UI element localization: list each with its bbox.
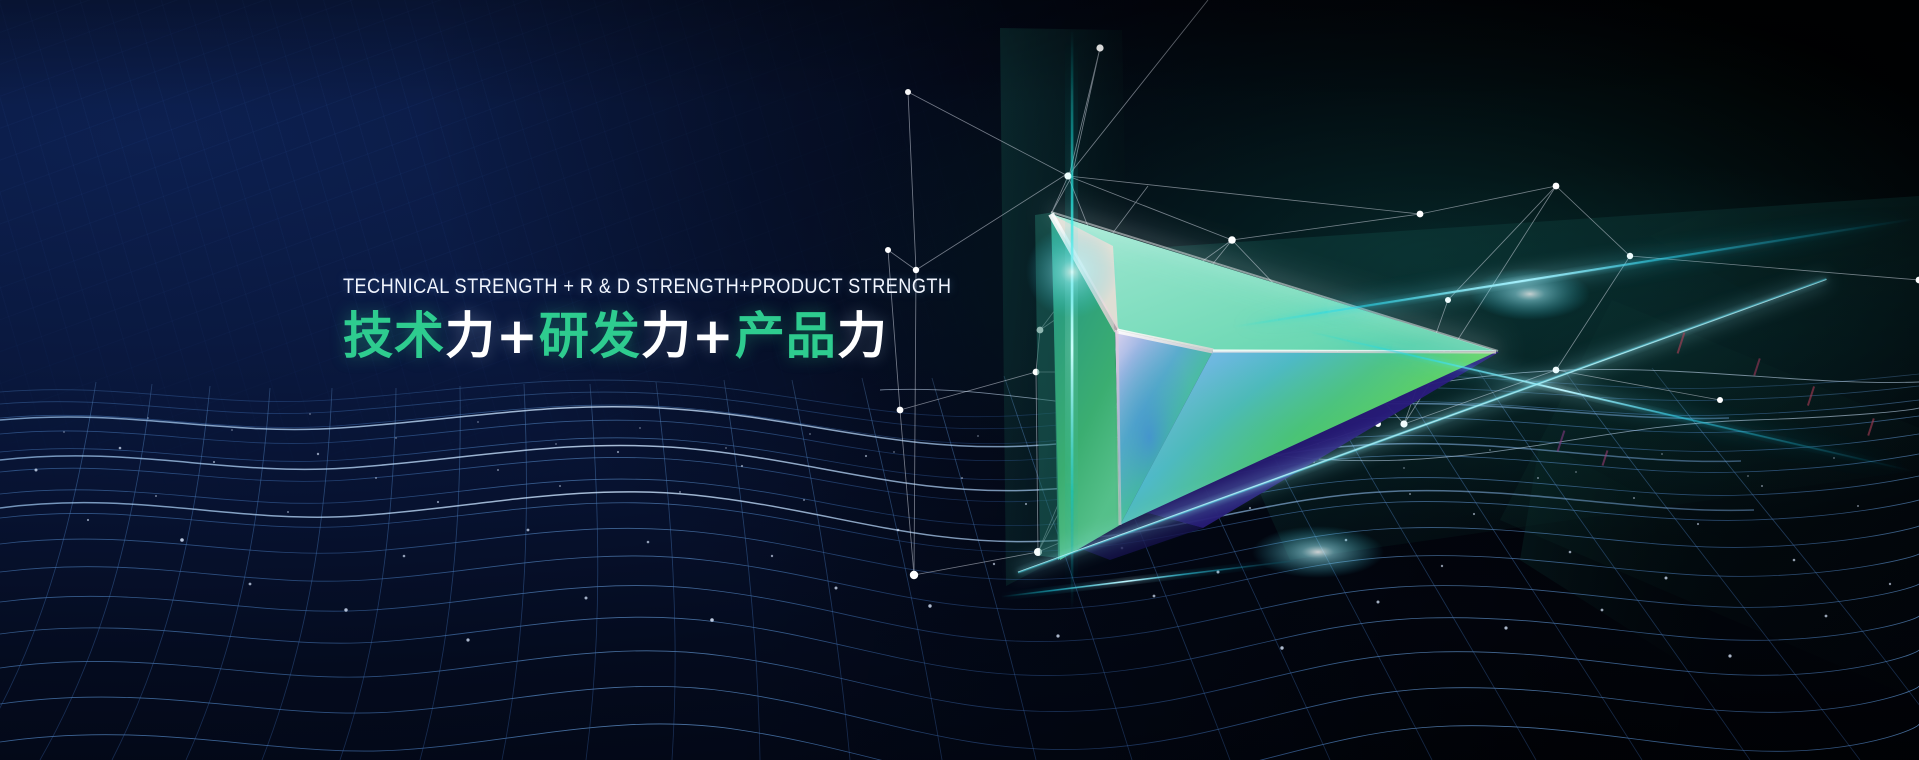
hero-copy-block: TECHNICAL STRENGTH + R & D STRENGTH+PROD… (343, 276, 1043, 362)
headline-segment-8: 力 (837, 307, 888, 365)
headline-segment-5: 力 (641, 307, 692, 365)
headline-segment-3: + (496, 307, 539, 365)
background-grid-mesh (0, 0, 1919, 760)
constellation-node-network (0, 0, 1919, 760)
headline-segment-2: 力 (445, 307, 496, 365)
headline-segment-1: 技术 (343, 307, 445, 365)
floating-particle-dots (0, 0, 1919, 760)
cyan-light-streaks (0, 0, 1919, 760)
eyebrow-tagline: TECHNICAL STRENGTH + R & D STRENGTH+PROD… (343, 276, 935, 298)
headline-segment-6: + (692, 307, 735, 365)
3d-play-arrow-graphic (0, 0, 1919, 760)
wireframe-terrain-mesh (0, 330, 1919, 760)
headline-segment-4: 研发 (539, 307, 641, 365)
background-dark-right-overlay (0, 0, 1919, 760)
dark-geometric-slabs (0, 0, 1919, 760)
vignette-overlay (0, 0, 1919, 760)
headline-segment-7: 产品 (735, 307, 837, 365)
hero-banner: TECHNICAL STRENGTH + R & D STRENGTH+PROD… (0, 0, 1919, 760)
background-teal-glow (0, 0, 1919, 760)
headline: 技术力+研发力+产品力 (343, 310, 1043, 363)
background-gradient (0, 0, 1919, 760)
